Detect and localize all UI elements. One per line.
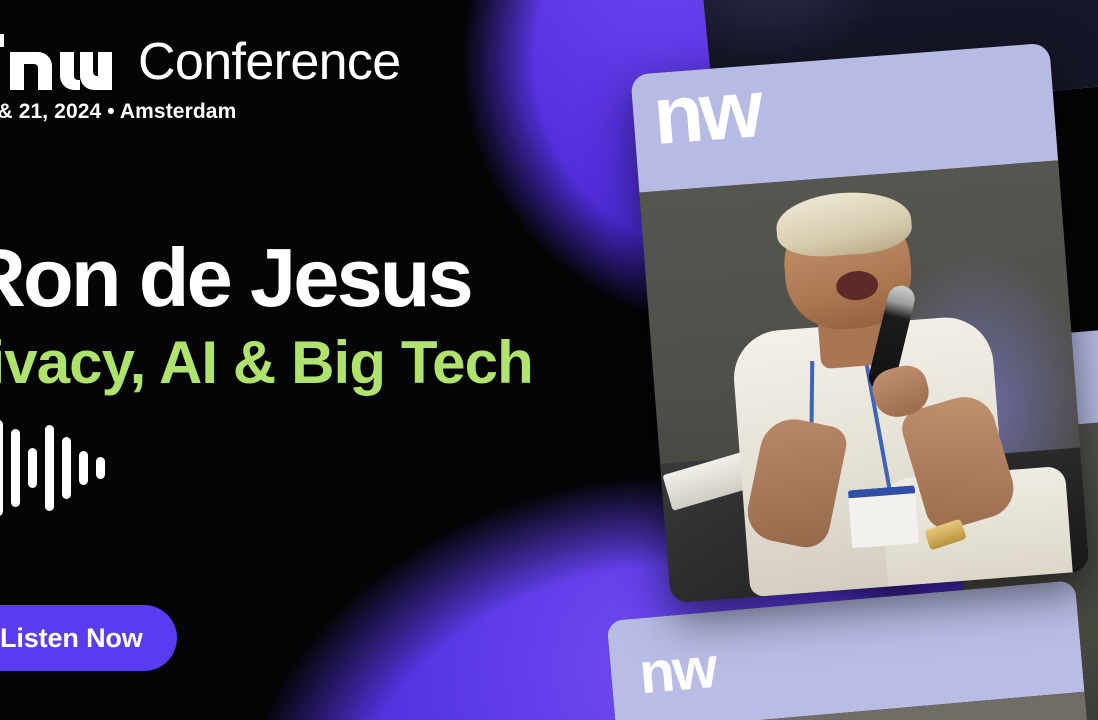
brand-word: Conference <box>138 36 401 88</box>
speaker-name: Ron de Jesus <box>0 236 471 319</box>
waveform-bar-3 <box>28 448 37 488</box>
brand-lockup: Conference <box>0 34 401 90</box>
event-dateline: 20 & 21, 2024 • Amsterdam <box>0 100 236 124</box>
waveform-bar-1 <box>0 420 3 516</box>
speaker-photo-card: nw <box>630 43 1089 604</box>
waveform-bar-6 <box>79 451 88 485</box>
speaker-photo <box>639 160 1089 603</box>
tnw-logo-icon <box>0 34 120 90</box>
waveform-bar-5 <box>62 437 71 499</box>
promo-content: Conference 20 & 21, 2024 • Amsterdam Ron… <box>0 0 660 720</box>
waveform-bar-7 <box>96 457 105 479</box>
conference-badge <box>848 485 919 548</box>
waveform-bar-2 <box>11 429 20 507</box>
waveform-bar-4 <box>45 425 54 511</box>
tnw-logo-icon: nw <box>651 75 762 150</box>
listen-now-button[interactable]: Listen Now <box>0 605 177 671</box>
episode-topic: rivacy, AI & Big Tech <box>0 333 533 393</box>
podcast-promo-banner: nw nw nw nw <box>0 0 1098 720</box>
audio-waveform-icon <box>0 416 105 520</box>
